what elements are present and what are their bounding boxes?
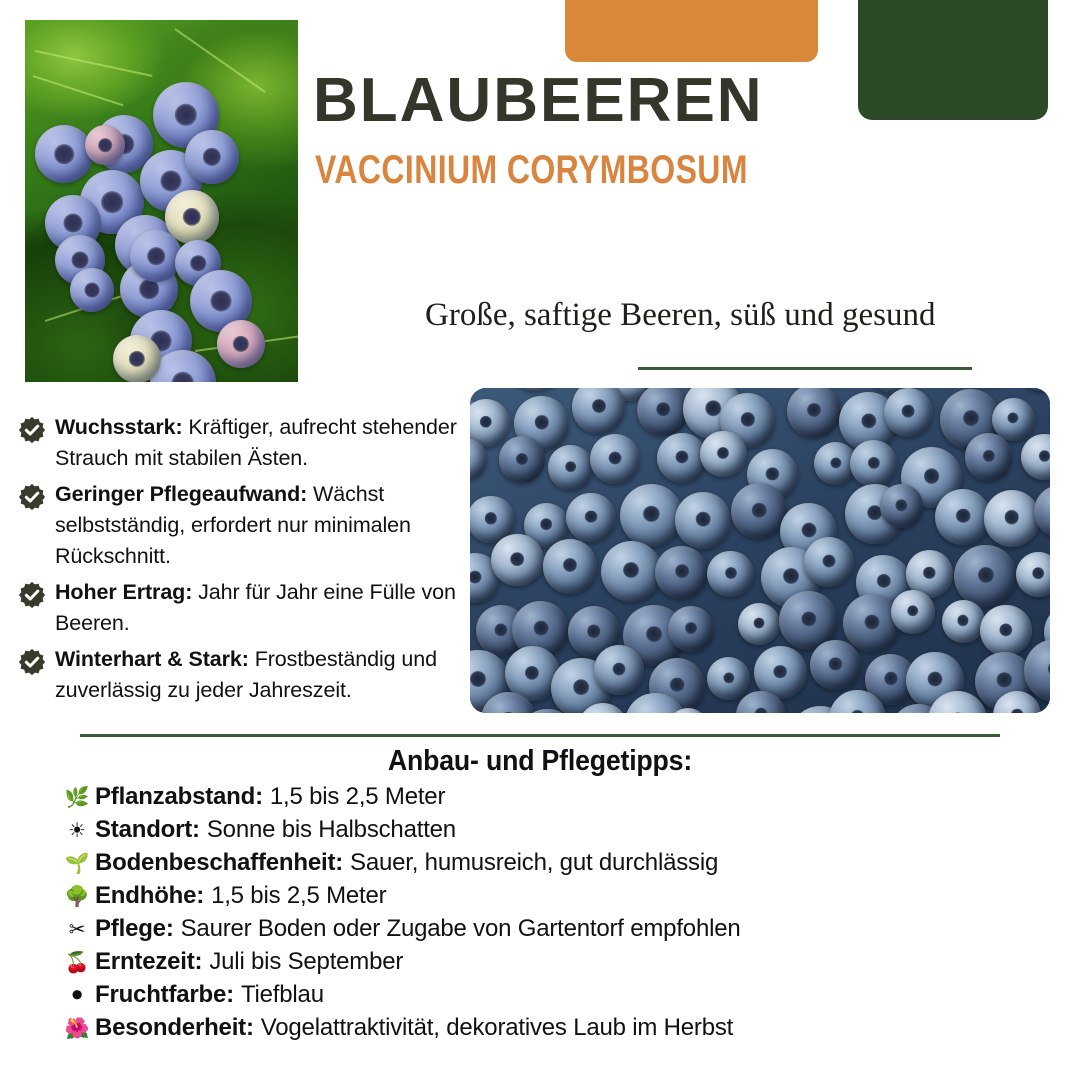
tip-label: Pflege: bbox=[95, 915, 174, 943]
berry-shape bbox=[35, 125, 93, 183]
tips-list: 🌿Pflanzabstand:1,5 bis 2,5 Meter☀Standor… bbox=[62, 783, 1072, 1047]
check-badge-icon bbox=[18, 581, 46, 609]
tip-item: 🍒Erntezeit:Juli bis September bbox=[62, 948, 1072, 981]
berry-shape bbox=[965, 433, 1012, 480]
tip-label: Bodenbeschaffenheit: bbox=[95, 849, 343, 877]
tip-item: 🌿Pflanzabstand:1,5 bis 2,5 Meter bbox=[62, 783, 1072, 816]
berry-shape bbox=[543, 539, 597, 593]
berry-shape bbox=[675, 492, 732, 549]
blueberry-bush-photo bbox=[25, 20, 298, 382]
berry-shape bbox=[707, 551, 753, 597]
berry-shape bbox=[85, 125, 125, 165]
berry-shape bbox=[810, 640, 861, 691]
berry-shape bbox=[655, 546, 708, 599]
berry-shape bbox=[130, 230, 182, 282]
berry-shape bbox=[491, 534, 543, 586]
feature-list: Wuchsstark: Kräftiger, aufrecht stehende… bbox=[18, 412, 488, 711]
berry-shape bbox=[590, 434, 640, 484]
berry-shape bbox=[499, 436, 545, 482]
berry-shape bbox=[804, 537, 854, 587]
hibiscus-icon: 🌺 bbox=[62, 1016, 92, 1040]
tip-value: Vogelattraktivität, dekoratives Laub im … bbox=[261, 1014, 733, 1042]
berry-shape bbox=[700, 431, 747, 478]
tip-label: Besonderheit: bbox=[95, 1014, 254, 1042]
berry-shape bbox=[980, 605, 1031, 656]
tip-value: 1,5 bis 2,5 Meter bbox=[211, 882, 386, 910]
tip-item: 🌱Bodenbeschaffenheit:Sauer, humusreich, … bbox=[62, 849, 1072, 882]
feature-item: Wuchsstark: Kräftiger, aufrecht stehende… bbox=[18, 412, 488, 474]
tip-item: ⚫Fruchtfarbe:Tiefblau bbox=[62, 981, 1072, 1014]
feature-item: Winterhart & Stark: Frostbeständig und z… bbox=[18, 644, 488, 706]
sun-icon: ☀ bbox=[62, 818, 92, 842]
check-badge-icon bbox=[18, 648, 46, 676]
berry-shape bbox=[984, 490, 1040, 546]
seedling-icon: 🌱 bbox=[62, 851, 92, 875]
green-decor-rectangle bbox=[858, 0, 1048, 120]
tip-value: 1,5 bis 2,5 Meter bbox=[270, 783, 445, 811]
berry-shape bbox=[891, 590, 935, 634]
tip-item: 🌺Besonderheit:Vogelattraktivität, dekora… bbox=[62, 1014, 1072, 1047]
tagline: Große, saftige Beeren, süß und gesund bbox=[425, 296, 1025, 336]
berry-shape bbox=[935, 489, 991, 545]
berry-shape bbox=[620, 484, 683, 547]
feature-item: Hoher Ertrag: Jahr für Jahr eine Fülle v… bbox=[18, 577, 488, 639]
berry-shape bbox=[217, 320, 265, 368]
tip-value: Juli bis September bbox=[209, 948, 403, 976]
cherries-icon: 🍒 bbox=[62, 950, 92, 974]
berry-shape bbox=[113, 335, 161, 382]
tagline-divider bbox=[638, 367, 972, 370]
berry-shape bbox=[594, 645, 644, 695]
tree-icon: 🌳 bbox=[62, 884, 92, 908]
berry-shape bbox=[548, 445, 593, 490]
tip-label: Erntezeit: bbox=[95, 948, 202, 976]
orange-decor-rectangle bbox=[565, 0, 818, 62]
berry-shape bbox=[668, 606, 714, 652]
feature-item-text: Hoher Ertrag: Jahr für Jahr eine Fülle v… bbox=[55, 577, 488, 639]
feature-item-text: Winterhart & Stark: Frostbeständig und z… bbox=[55, 644, 488, 706]
feature-item: Geringer Pflegeaufwand: Wächst selbststä… bbox=[18, 479, 488, 572]
tips-divider bbox=[80, 734, 1000, 737]
feature-item-text: Wuchsstark: Kräftiger, aufrecht stehende… bbox=[55, 412, 488, 474]
poster-canvas: BLAUBEEREN VACCINIUM CORYMBOSUM Große, s… bbox=[0, 0, 1080, 1080]
berry-shape bbox=[70, 268, 114, 312]
tips-heading: Anbau- und Pflegetipps: bbox=[43, 745, 1037, 778]
check-badge-icon bbox=[18, 416, 46, 444]
tip-item: ✂Pflege:Saurer Boden oder Zugabe von Gar… bbox=[62, 915, 1072, 948]
tip-value: Sonne bis Halbschatten bbox=[207, 816, 456, 844]
berry-shape bbox=[566, 493, 615, 542]
feature-item-label: Hoher Ertrag: bbox=[55, 580, 192, 604]
berry-shape bbox=[738, 603, 780, 645]
tip-value: Sauer, humusreich, gut durchlässig bbox=[350, 849, 718, 877]
berry-shape bbox=[185, 130, 239, 184]
berry-shape bbox=[942, 600, 985, 643]
tip-value: Saurer Boden oder Zugabe von Gartentorf … bbox=[181, 915, 741, 943]
tip-label: Fruchtfarbe: bbox=[95, 981, 234, 1009]
tip-label: Pflanzabstand: bbox=[95, 783, 263, 811]
feature-item-label: Wuchsstark: bbox=[55, 415, 183, 439]
scissors-icon: ✂ bbox=[62, 917, 92, 941]
tip-label: Endhöhe: bbox=[95, 882, 204, 910]
feature-item-label: Geringer Pflegeaufwand: bbox=[55, 482, 307, 506]
berry-shape bbox=[601, 541, 662, 602]
tip-item: ☀Standort:Sonne bis Halbschatten bbox=[62, 816, 1072, 849]
tip-value: Tiefblau bbox=[241, 981, 324, 1009]
tip-label: Standort: bbox=[95, 816, 200, 844]
check-badge-icon bbox=[18, 483, 46, 511]
tip-item: 🌳Endhöhe:1,5 bis 2,5 Meter bbox=[62, 882, 1072, 915]
blueberry-harvest-photo bbox=[470, 388, 1050, 713]
berry-shape bbox=[954, 545, 1016, 607]
herb-icon: 🌿 bbox=[62, 785, 92, 809]
feature-item-text: Geringer Pflegeaufwand: Wächst selbststä… bbox=[55, 479, 488, 572]
feature-item-label: Winterhart & Stark: bbox=[55, 647, 249, 671]
black-circle-icon: ⚫ bbox=[62, 983, 92, 1007]
page-title: BLAUBEEREN bbox=[313, 70, 764, 132]
botanical-name: VACCINIUM CORYMBOSUM bbox=[315, 150, 748, 190]
berry-shape bbox=[884, 388, 933, 437]
